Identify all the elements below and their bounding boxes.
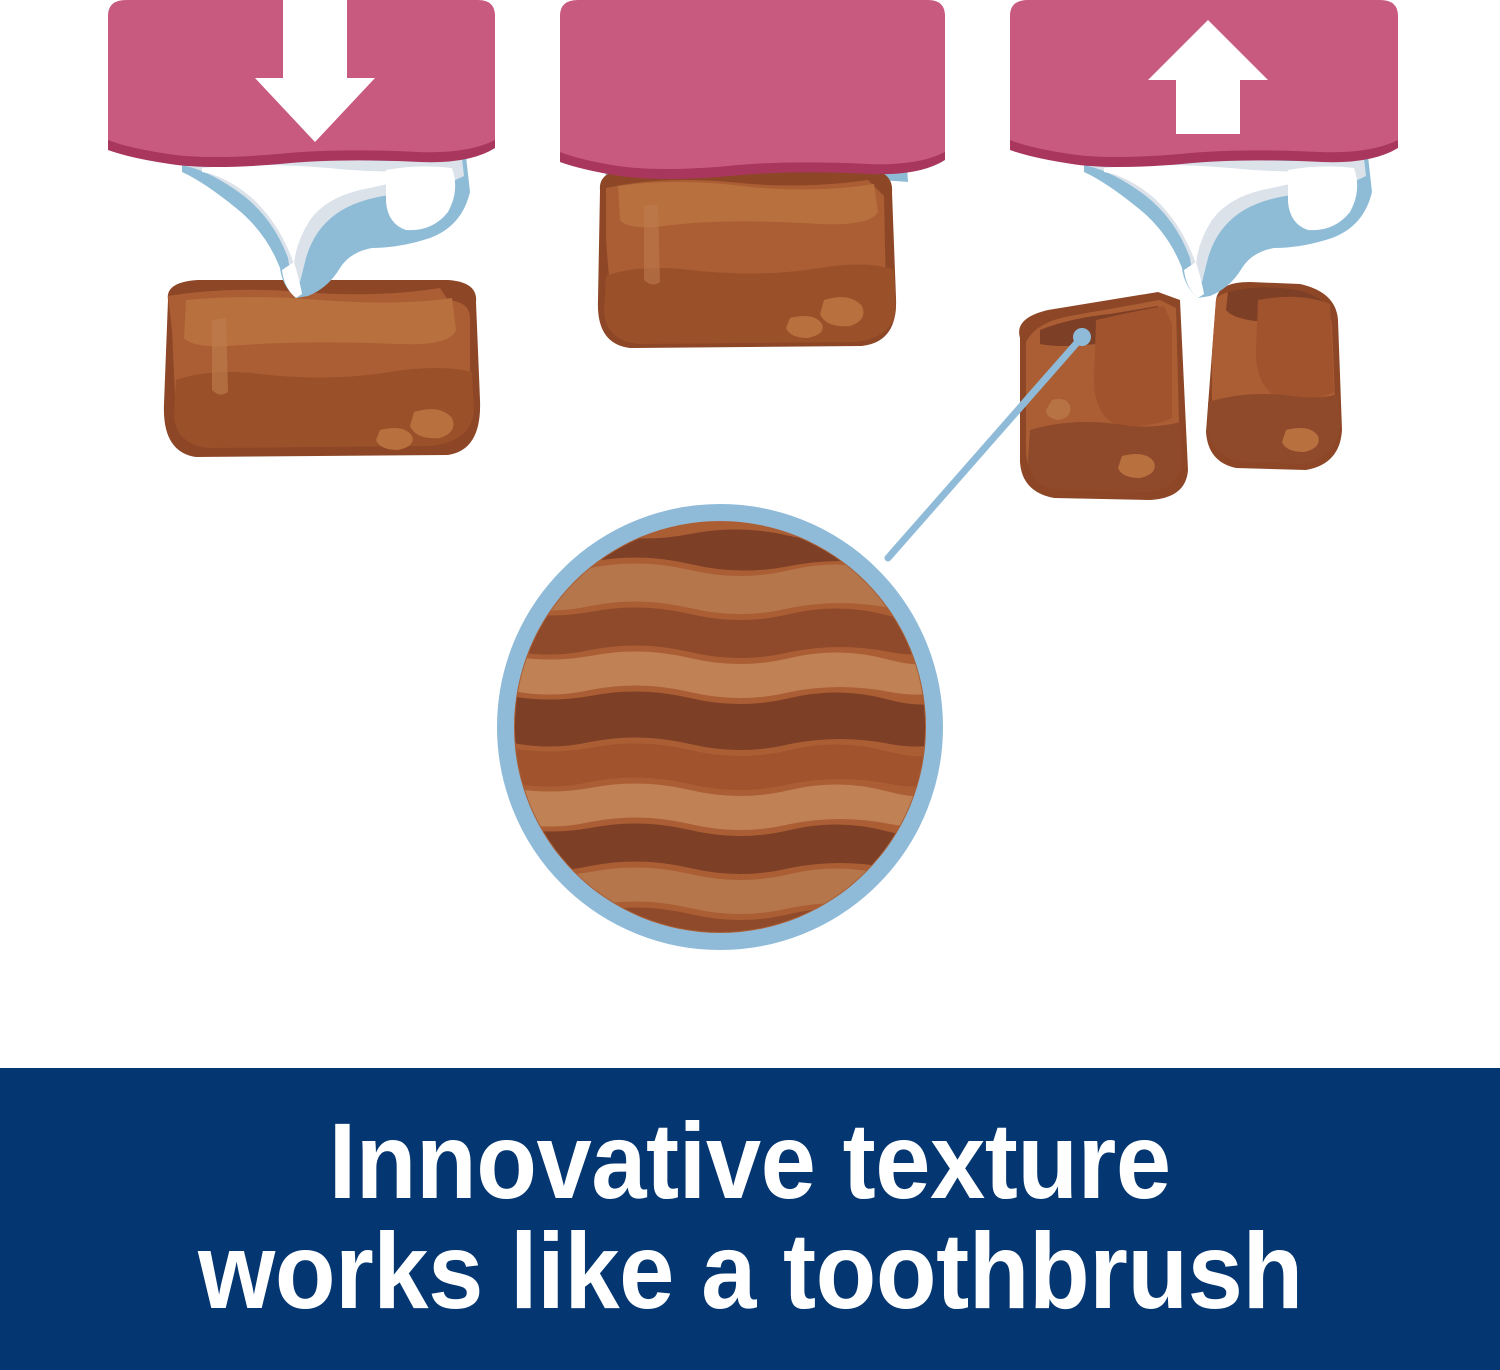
gum-block-left	[108, 0, 495, 167]
kibble-broken-left	[1019, 292, 1188, 500]
panel-contact	[560, 0, 945, 348]
headline-line-2: works like a toothbrush	[198, 1216, 1303, 1326]
kibble-whole-middle	[598, 168, 896, 348]
panel-press-down	[108, 0, 495, 457]
magnifier-circle-icon	[500, 505, 945, 985]
kibble-broken-right	[1206, 282, 1342, 470]
gum-block-middle	[560, 0, 945, 179]
gum-block-right	[1010, 0, 1398, 167]
kibble-whole-left	[164, 280, 480, 457]
tooth-pressing-down	[182, 153, 470, 298]
headline-line-1: Innovative texture	[329, 1106, 1171, 1216]
infographic-root: Innovative texture works like a toothbru…	[0, 0, 1500, 1370]
tooth-lifting-up	[1084, 153, 1372, 298]
headline-banner: Innovative texture works like a toothbru…	[0, 1068, 1500, 1370]
illustration-canvas	[0, 0, 1500, 1068]
panel-lift-up	[1010, 0, 1398, 500]
